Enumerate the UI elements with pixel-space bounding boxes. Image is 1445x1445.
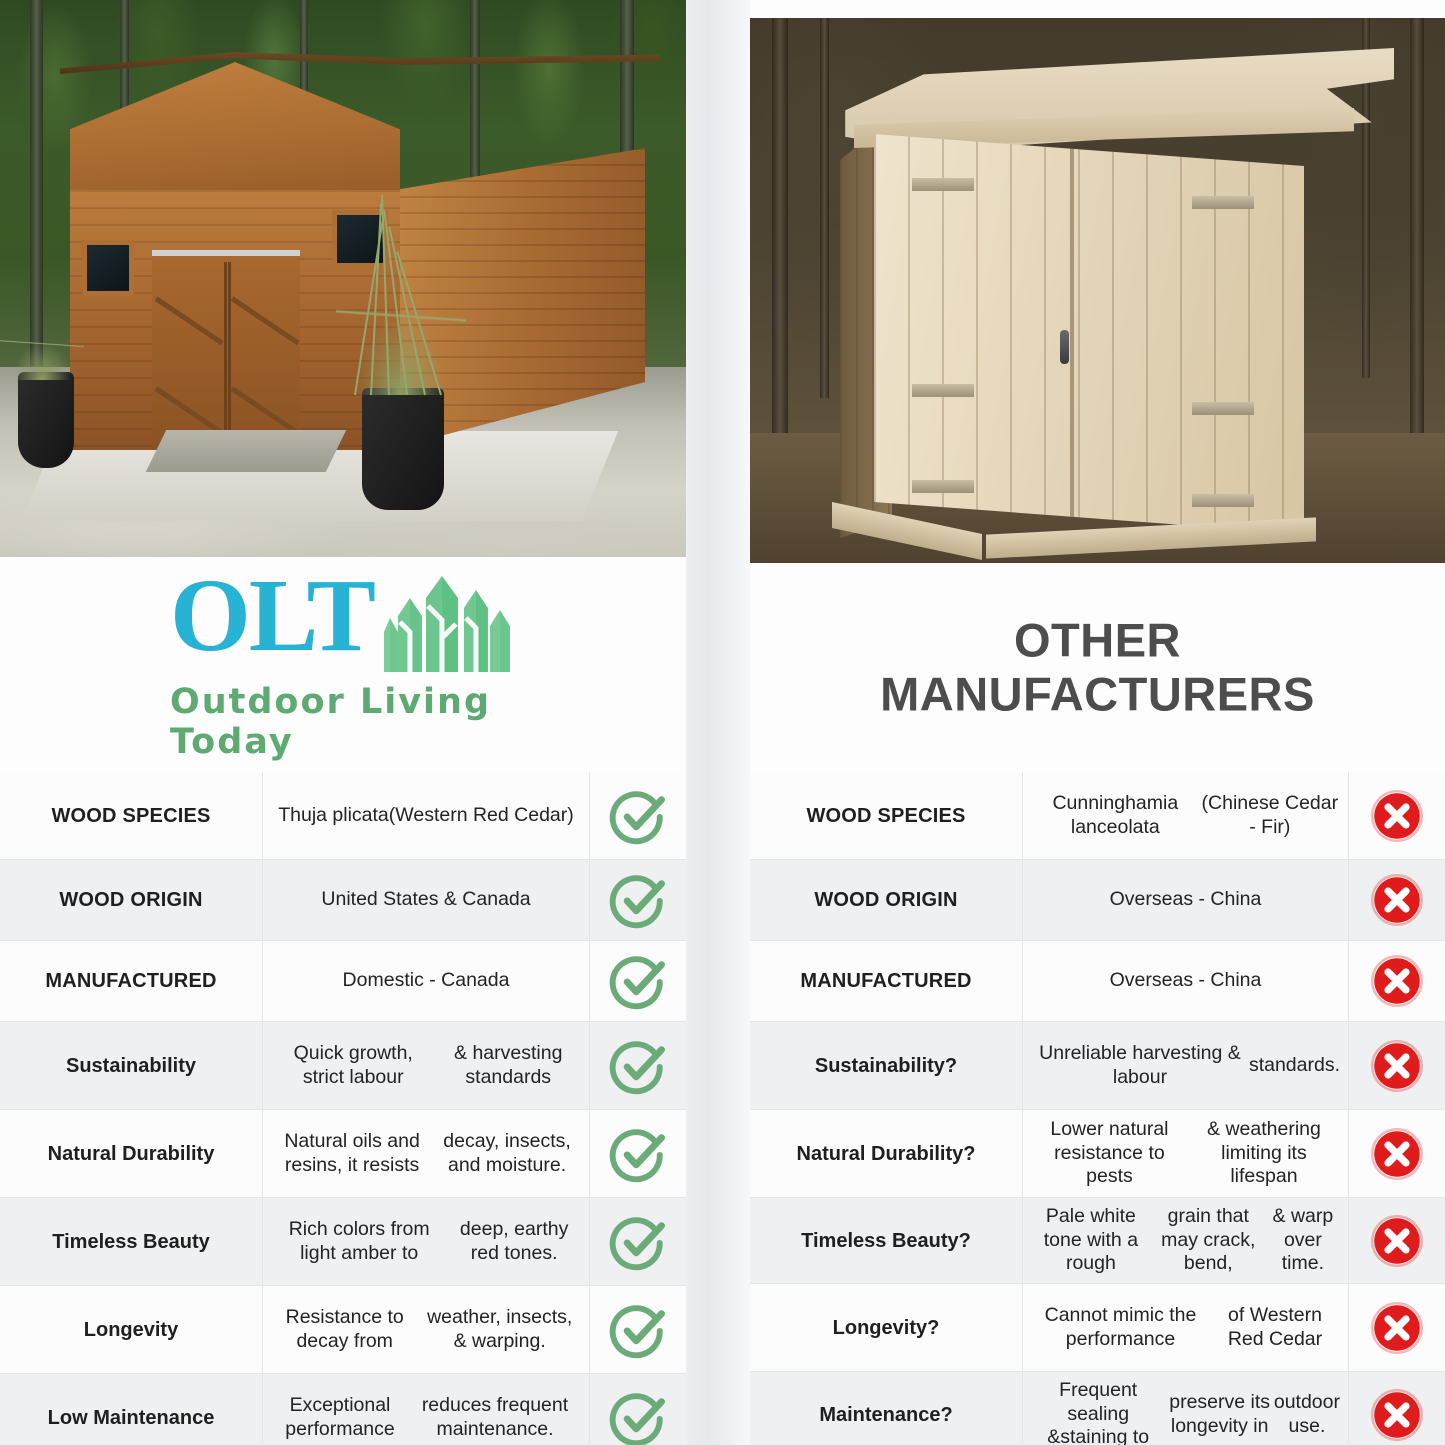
- door-brace: [155, 296, 224, 345]
- check-circle-icon: [609, 1301, 667, 1359]
- status-check: [590, 1110, 686, 1197]
- status-cross: [1349, 772, 1445, 859]
- row-label: Maintenance?: [750, 1372, 1022, 1445]
- door-handle: [1060, 330, 1069, 364]
- row-value: Frequent sealing &staining topreserve it…: [1022, 1372, 1349, 1445]
- row-value: Thuja plicata(Western Red Cedar): [262, 772, 590, 859]
- check-circle-icon: [609, 1213, 667, 1271]
- shed-door: [152, 250, 300, 450]
- row-label: Timeless Beauty?: [750, 1198, 1022, 1283]
- shed-window: [82, 240, 134, 296]
- status-cross: [1349, 860, 1445, 940]
- olt-comparison-table: WOOD SPECIESThuja plicata(Western Red Ce…: [0, 772, 686, 1445]
- row-value: United States & Canada: [262, 860, 590, 940]
- ornamental-grass: [336, 200, 466, 395]
- row-label: Timeless Beauty: [0, 1198, 262, 1285]
- table-row: Longevity?Cannot mimic the performanceof…: [750, 1284, 1445, 1372]
- x-circle-icon: [1371, 1215, 1423, 1267]
- olt-logo: OLT: [170, 568, 516, 762]
- row-label: Sustainability?: [750, 1022, 1022, 1109]
- tree-trunk: [820, 18, 829, 398]
- row-label: WOOD ORIGIN: [0, 860, 262, 940]
- table-row: WOOD ORIGINOverseas - China: [750, 860, 1445, 941]
- door-brace: [231, 386, 300, 435]
- table-row: Timeless Beauty?Pale white tone with a r…: [750, 1198, 1445, 1284]
- row-value: Resistance to decay fromweather, insects…: [262, 1286, 590, 1373]
- row-label: Longevity?: [750, 1284, 1022, 1371]
- other-manufacturers-title: OTHER MANUFACTURERS: [750, 613, 1445, 722]
- row-value: Rich colors from light amber todeep, ear…: [262, 1198, 590, 1285]
- row-value: Domestic - Canada: [262, 941, 590, 1021]
- row-label: MANUFACTURED: [0, 941, 262, 1021]
- title-line-2: MANUFACTURERS: [750, 668, 1445, 723]
- row-value: Cannot mimic the performanceof Western R…: [1022, 1284, 1349, 1371]
- table-row: WOOD SPECIESCunninghamia lanceolata(Chin…: [750, 772, 1445, 860]
- status-cross: [1349, 1198, 1445, 1283]
- column-divider: [686, 0, 750, 1445]
- status-check: [590, 1198, 686, 1285]
- tree-trunk: [772, 18, 788, 468]
- table-row: Maintenance?Frequent sealing &staining t…: [750, 1372, 1445, 1445]
- door-hinge: [912, 480, 974, 493]
- row-value: Pale white tone with a roughgrain that m…: [1022, 1198, 1349, 1283]
- planter-pot: [362, 388, 444, 510]
- row-label: WOOD SPECIES: [0, 772, 262, 859]
- status-check: [590, 772, 686, 859]
- table-row: MANUFACTUREDOverseas - China: [750, 941, 1445, 1022]
- x-circle-icon: [1371, 874, 1423, 926]
- row-value: Quick growth, strict labour& harvesting …: [262, 1022, 590, 1109]
- table-row: SustainabilityQuick growth, strict labou…: [0, 1022, 686, 1110]
- door-hinge: [1192, 494, 1254, 507]
- status-cross: [1349, 1284, 1445, 1371]
- check-circle-icon: [609, 871, 667, 929]
- x-circle-icon: [1371, 1040, 1423, 1092]
- status-check: [590, 1022, 686, 1109]
- table-row: WOOD ORIGINUnited States & Canada: [0, 860, 686, 941]
- door-hinge: [1192, 402, 1254, 415]
- row-label: Longevity: [0, 1286, 262, 1373]
- door-hinge: [912, 384, 974, 397]
- status-cross: [1349, 1372, 1445, 1445]
- table-row: Natural Durability?Lower natural resista…: [750, 1110, 1445, 1198]
- status-cross: [1349, 941, 1445, 1021]
- shed-roof-edge: [60, 52, 660, 74]
- table-row: Sustainability?Unreliable harvesting & l…: [750, 1022, 1445, 1110]
- fir-shed: [846, 48, 1376, 548]
- logo-wordmark: OLT: [170, 568, 374, 664]
- status-check: [590, 1286, 686, 1373]
- comparison-infographic: OLT: [0, 0, 1445, 1445]
- check-circle-icon: [609, 787, 667, 845]
- check-circle-icon: [609, 1125, 667, 1183]
- row-label: MANUFACTURED: [750, 941, 1022, 1021]
- table-row: LongevityResistance to decay fromweather…: [0, 1286, 686, 1374]
- row-label: Low Maintenance: [0, 1374, 262, 1445]
- planter-pot: [18, 372, 74, 468]
- shed-ramp: [146, 430, 346, 472]
- row-value: Unreliable harvesting & labourstandards.: [1022, 1022, 1349, 1109]
- row-value: Lower natural resistance to pests& weath…: [1022, 1110, 1349, 1197]
- table-row: Low MaintenanceExceptional performancere…: [0, 1374, 686, 1445]
- table-row: WOOD SPECIESThuja plicata(Western Red Ce…: [0, 772, 686, 860]
- status-cross: [1349, 1110, 1445, 1197]
- check-circle-icon: [609, 1389, 667, 1445]
- olt-logo-band: OLT: [0, 557, 686, 772]
- other-title-band: OTHER MANUFACTURERS: [750, 563, 1445, 772]
- x-circle-icon: [1371, 790, 1423, 842]
- door-brace: [155, 386, 224, 435]
- title-line-1: OTHER: [750, 613, 1445, 668]
- door-hinge: [912, 178, 974, 191]
- status-check: [590, 1374, 686, 1445]
- row-value: Cunninghamia lanceolata(Chinese Cedar - …: [1022, 772, 1349, 859]
- door-hinge: [1192, 196, 1254, 209]
- ornamental-grass: [0, 290, 84, 380]
- row-label: Natural Durability: [0, 1110, 262, 1197]
- x-circle-icon: [1371, 1302, 1423, 1354]
- table-row: MANUFACTUREDDomestic - Canada: [0, 941, 686, 1022]
- x-circle-icon: [1371, 1389, 1423, 1441]
- x-circle-icon: [1371, 1128, 1423, 1180]
- row-label: WOOD ORIGIN: [750, 860, 1022, 940]
- other-comparison-table: WOOD SPECIESCunninghamia lanceolata(Chin…: [750, 772, 1445, 1445]
- olt-shed-photo: [0, 0, 686, 557]
- shed-front-wall: [874, 134, 1304, 534]
- door-brace: [231, 296, 300, 345]
- row-label: Natural Durability?: [750, 1110, 1022, 1197]
- row-label: WOOD SPECIES: [750, 772, 1022, 859]
- check-circle-icon: [609, 1037, 667, 1095]
- status-check: [590, 941, 686, 1021]
- status-check: [590, 860, 686, 940]
- row-value: Natural oils and resins, it resistsdecay…: [262, 1110, 590, 1197]
- row-value: Exceptional performancereduces frequent …: [262, 1374, 590, 1445]
- row-value: Overseas - China: [1022, 860, 1349, 940]
- logo-tagline: Outdoor Living Today: [170, 682, 516, 762]
- table-row: Timeless BeautyRich colors from light am…: [0, 1198, 686, 1286]
- row-label: Sustainability: [0, 1022, 262, 1109]
- tree-trunk: [1410, 18, 1424, 448]
- cedar-trees-icon: [384, 576, 516, 680]
- table-row: Natural DurabilityNatural oils and resin…: [0, 1110, 686, 1198]
- status-cross: [1349, 1022, 1445, 1109]
- x-circle-icon: [1371, 955, 1423, 1007]
- other-shed-photo: [750, 18, 1445, 563]
- check-circle-icon: [609, 952, 667, 1010]
- door-seam: [1070, 146, 1074, 526]
- row-value: Overseas - China: [1022, 941, 1349, 1021]
